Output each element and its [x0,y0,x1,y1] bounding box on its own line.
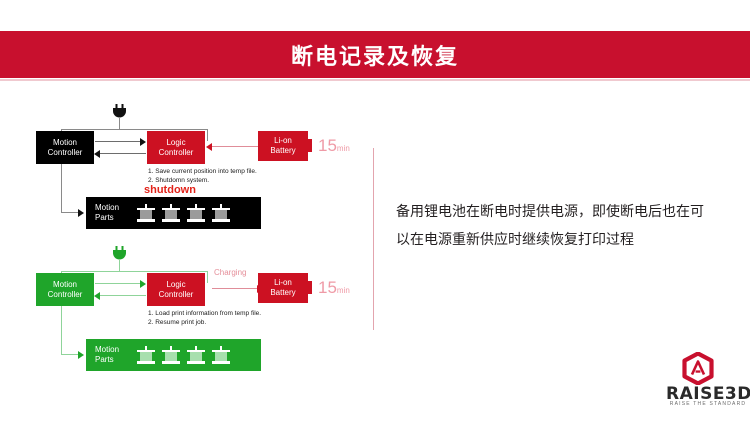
battery-duration-label: 15min [318,278,350,298]
plug-right-drop [207,271,208,283]
resume-steps: 1. Load print information from temp file… [148,310,261,327]
vertical-divider [373,148,374,330]
battery-terminal-nub [307,281,312,294]
diagram-resume: Motion Controller Logic Controller Charg… [0,0,380,422]
logic-controller-node: Logic Controller [147,273,205,306]
lc-to-mc-arrowhead [94,292,100,300]
motor-icon [212,346,230,365]
mc-to-parts-horizontal [61,354,79,355]
lc-to-battery-line [212,288,258,289]
motor-group [137,346,230,365]
battery-line1: Li-on [274,278,292,288]
battery-node: Li-on Battery [258,273,308,303]
battery-duration-unit: min [337,286,350,295]
motion-parts-line2: Parts [95,355,114,364]
raise3d-tagline: RAISE THE STANDARD [666,401,750,407]
motor-icon [162,346,180,365]
motion-parts-bar: Motion Parts [86,339,261,371]
mc-to-lc-line [95,283,141,284]
motion-controller-node: Motion Controller [36,273,94,306]
motor-icon [187,346,205,365]
mc-to-parts-arrowhead [78,351,84,359]
motion-controller-line1: Motion [53,280,77,290]
lc-to-mc-line [100,295,146,296]
mc-to-parts-vertical [61,306,62,354]
motor-icon [137,346,155,365]
resume-step-2: 2. Resume print job. [148,319,261,328]
raise3d-logo: RAISE3D RAISE THE STANDARD [672,352,750,414]
logic-controller-line1: Logic [166,280,185,290]
mc-to-lc-arrowhead [140,280,146,288]
raise3d-hexagon-icon [681,352,715,385]
battery-duration-value: 15 [318,278,337,297]
charging-label: Charging [214,268,246,277]
battery-line2: Battery [270,288,295,298]
description-text: 备用锂电池在断电时提供电源，即使断电后也在可以在电源重新供应时继续恢复打印过程 [396,198,706,254]
motion-parts-label: Motion Parts [95,345,133,365]
resume-step-1: 1. Load print information from temp file… [148,310,261,319]
logic-controller-line2: Controller [159,290,194,300]
plug-bus-line [61,271,208,272]
motion-controller-line2: Controller [48,290,83,300]
power-plug-icon [111,246,128,261]
motion-parts-line1: Motion [95,345,119,354]
